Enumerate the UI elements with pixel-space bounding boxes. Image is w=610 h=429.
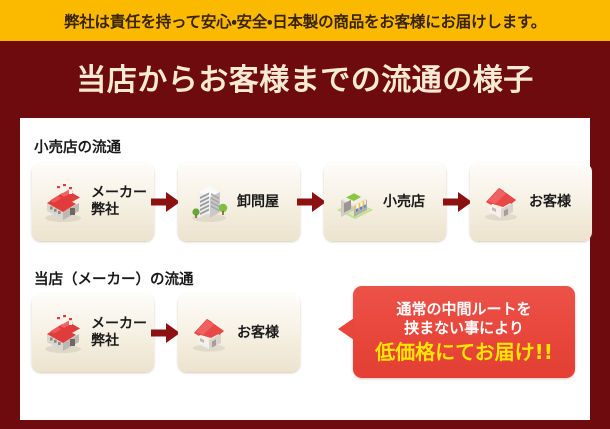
retail-store-icon xyxy=(332,179,378,225)
section-heading-retail: 小売店の流通 xyxy=(34,136,121,157)
page-title: 当店からお客様までの流通の様子 xyxy=(76,55,534,99)
callout-line-1: 通常の中間ルートを xyxy=(396,300,531,320)
house-icon xyxy=(478,179,524,225)
factory-icon xyxy=(40,179,86,225)
banner-text: 弊社は責任を持って安心・安全・日本製の商品をお客様にお届けします。 xyxy=(64,10,546,32)
flow-step-card-maker-retail: メーカー 弊社 xyxy=(32,163,154,241)
house-icon xyxy=(186,310,232,356)
flow-step-card-wholesaler: 卸問屋 xyxy=(178,163,300,241)
flow-step-label: 卸問屋 xyxy=(237,194,279,211)
price-callout-balloon: 通常の中間ルートを 挟まない事により 低価格にてお届け!! xyxy=(353,286,575,378)
title-band: 当店からお客様までの流通の様子 xyxy=(0,41,610,113)
top-banner: 弊社は責任を持って安心・安全・日本製の商品をお客様にお届けします。 xyxy=(0,0,610,41)
flow-step-card-customer-retail: お客様 xyxy=(470,163,592,241)
arrow-right-icon xyxy=(151,320,181,346)
flow-step-card-retailer: 小売店 xyxy=(324,163,446,241)
flow-step-label: お客様 xyxy=(237,325,279,342)
flow-step-label: お客様 xyxy=(529,194,571,211)
arrow-right-icon xyxy=(297,189,327,215)
flow-step-card-customer-direct: お客様 xyxy=(178,294,300,372)
balloon-content: 通常の中間ルートを 挟まない事により 低価格にてお届け!! xyxy=(353,286,575,378)
flow-step-label: 小売店 xyxy=(383,194,425,211)
flow-step-label: メーカー 弊社 xyxy=(91,316,147,349)
factory-icon xyxy=(40,310,86,356)
infographic-root: 弊社は責任を持って安心・安全・日本製の商品をお客様にお届けします。 当店からお客… xyxy=(0,0,610,429)
content-panel: 小売店の流通 xyxy=(20,118,590,420)
flow-step-label: メーカー 弊社 xyxy=(91,185,147,218)
section-heading-direct: 当店（メーカー）の流通 xyxy=(34,268,194,289)
callout-line-3-highlight: 低価格にてお届け!! xyxy=(375,340,553,365)
office-building-icon xyxy=(186,179,232,225)
callout-line-2: 挟まない事により xyxy=(404,319,524,339)
balloon-tail xyxy=(338,318,354,340)
arrow-right-icon xyxy=(443,189,473,215)
flow-step-card-maker-direct: メーカー 弊社 xyxy=(32,294,154,372)
arrow-right-icon xyxy=(151,189,181,215)
